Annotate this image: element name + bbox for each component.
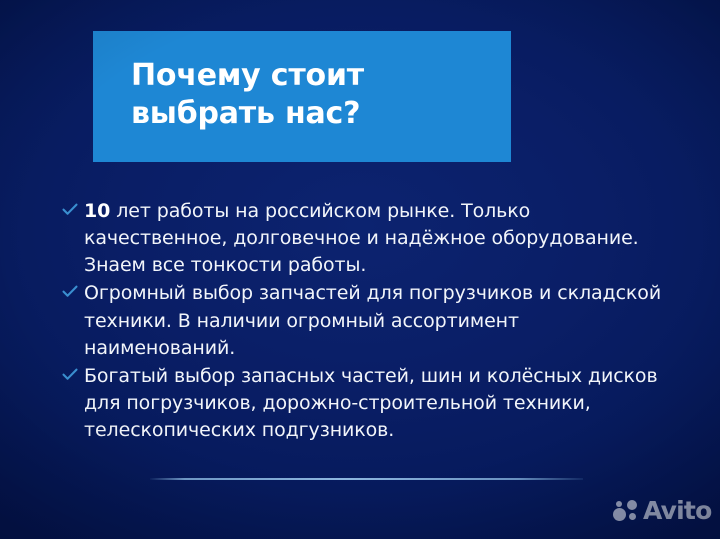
list-item-text: Богатый выбор запасных частей, шин и кол… [84, 363, 672, 444]
list-item: Богатый выбор запасных частей, шин и кол… [62, 363, 672, 444]
list-item-body: Богатый выбор запасных частей, шин и кол… [84, 365, 658, 441]
page-title: Почему стоит выбрать нас? [131, 57, 501, 134]
benefits-list: 10 лет работы на российском рынке. Тольк… [62, 198, 672, 445]
avito-wordmark: Avito [643, 498, 711, 523]
check-icon [62, 285, 84, 298]
list-item: 10 лет работы на российском рынке. Тольк… [62, 198, 672, 279]
list-item-lead: 10 [84, 200, 110, 222]
list-item-body: лет работы на российском рынке. Только к… [84, 200, 639, 276]
divider [150, 478, 583, 480]
avito-watermark: Avito [613, 498, 711, 523]
list-item-body: Огромный выбор запчастей для погрузчиков… [84, 282, 661, 358]
check-icon [62, 203, 84, 216]
avito-dots-icon [613, 498, 640, 523]
check-icon [62, 368, 84, 381]
list-item: Огромный выбор запчастей для погрузчиков… [62, 280, 672, 361]
list-item-text: 10 лет работы на российском рынке. Тольк… [84, 198, 672, 279]
title-banner: Почему стоит выбрать нас? [93, 31, 511, 162]
slide-canvas: Почему стоит выбрать нас? 10 лет работы … [0, 0, 720, 539]
list-item-text: Огромный выбор запчастей для погрузчиков… [84, 280, 672, 361]
